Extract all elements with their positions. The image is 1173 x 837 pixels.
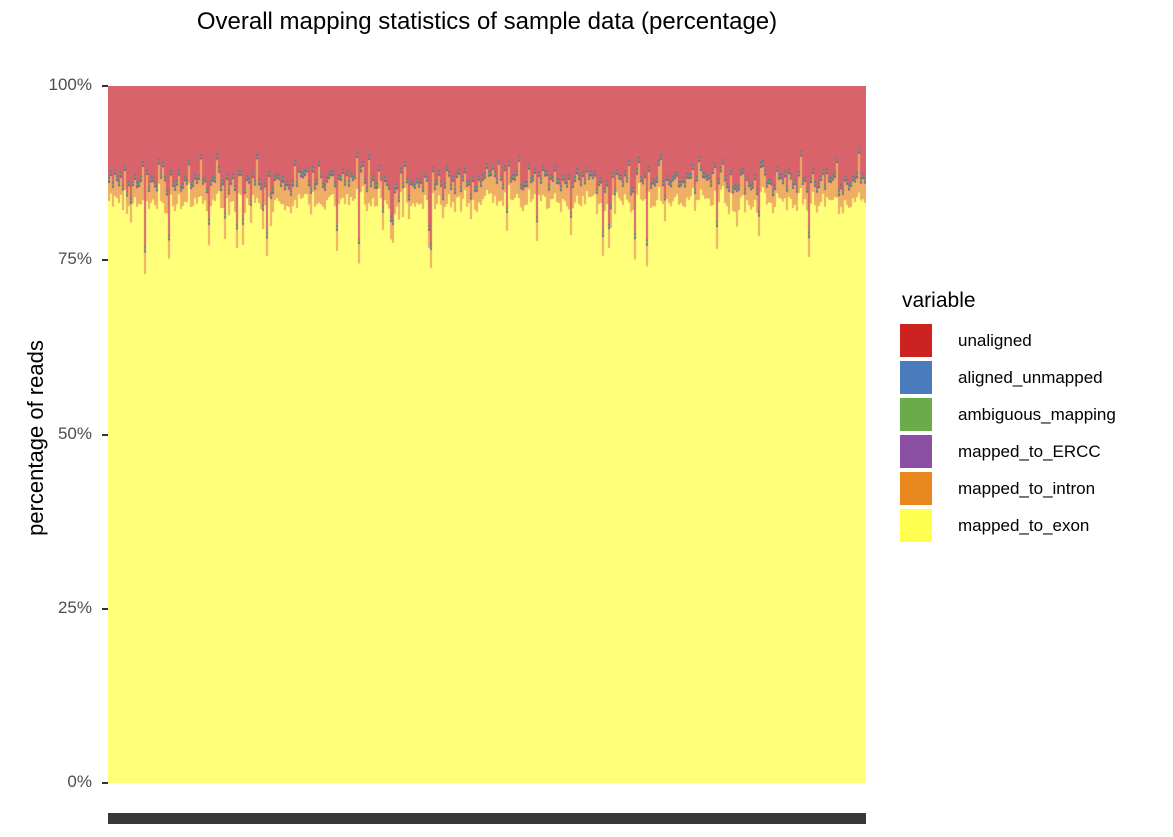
x-axis-group-strip xyxy=(108,813,866,824)
y-axis-title: percentage of reads xyxy=(23,298,49,578)
stacked-bar-series xyxy=(108,86,866,783)
legend-item[interactable]: mapped_to_exon xyxy=(900,507,1173,544)
legend-title: variable xyxy=(902,288,1173,314)
legend-label: unaligned xyxy=(958,331,1032,351)
legend-swatch-icon xyxy=(900,509,932,542)
y-tick-label: 100% xyxy=(49,75,92,95)
legend-swatch-icon xyxy=(900,435,932,468)
legend-label: mapped_to_intron xyxy=(958,479,1095,499)
legend-item[interactable]: ambiguous_mapping xyxy=(900,396,1173,433)
legend-item[interactable]: unaligned xyxy=(900,322,1173,359)
legend-item[interactable]: aligned_unmapped xyxy=(900,359,1173,396)
legend-label: mapped_to_ERCC xyxy=(958,442,1101,462)
y-tick-label: 75% xyxy=(58,249,92,269)
legend-label: ambiguous_mapping xyxy=(958,405,1116,425)
y-tick-label: 50% xyxy=(58,424,92,444)
legend-item[interactable]: mapped_to_ERCC xyxy=(900,433,1173,470)
legend-label: aligned_unmapped xyxy=(958,368,1103,388)
legend-swatch-icon xyxy=(900,324,932,357)
legend-item[interactable]: mapped_to_intron xyxy=(900,470,1173,507)
legend-swatch-icon xyxy=(900,398,932,431)
chart-title: Overall mapping statistics of sample dat… xyxy=(108,6,866,38)
y-tick-label: 0% xyxy=(67,772,92,792)
plot-panel xyxy=(108,86,866,783)
chart-root: Overall mapping statistics of sample dat… xyxy=(0,0,1173,837)
y-tick-label: 25% xyxy=(58,598,92,618)
legend: variable unalignedaligned_unmappedambigu… xyxy=(900,288,1173,544)
legend-swatch-icon xyxy=(900,361,932,394)
legend-label: mapped_to_exon xyxy=(958,516,1089,536)
legend-item-list: unalignedaligned_unmappedambiguous_mappi… xyxy=(900,322,1173,544)
legend-swatch-icon xyxy=(900,472,932,505)
